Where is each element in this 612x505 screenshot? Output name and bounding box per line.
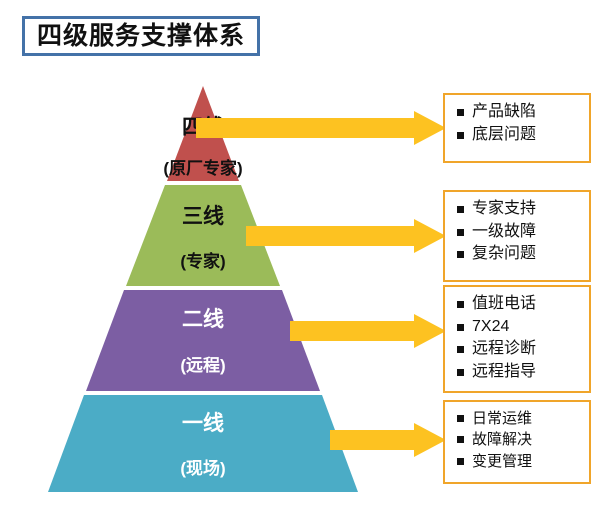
list-item: 专家支持 xyxy=(457,198,579,221)
tier3-callout[interactable]: 专家支持 一级故障 复杂问题 xyxy=(443,190,591,282)
arrow-to-tier4-callout xyxy=(196,111,446,145)
list-item: 一级故障 xyxy=(457,221,579,244)
tier4-callout-list: 产品缺陷 底层问题 xyxy=(457,101,579,146)
list-item-label: 变更管理 xyxy=(472,451,532,472)
list-item: 产品缺陷 xyxy=(457,101,579,124)
page-title: 四级服务支撑体系 xyxy=(37,24,245,49)
square-bullet-icon xyxy=(457,346,464,353)
list-item-label: 复杂问题 xyxy=(472,243,536,266)
square-bullet-icon xyxy=(457,132,464,139)
list-item-label: 远程诊断 xyxy=(472,338,536,361)
square-bullet-icon xyxy=(457,109,464,116)
tier2-callout-list: 值班电话 7X24 远程诊断 远程指导 xyxy=(457,293,579,384)
list-item-label: 7X24 xyxy=(472,316,509,339)
list-item: 7X24 xyxy=(457,316,579,339)
list-item-label: 故障解决 xyxy=(472,429,532,450)
list-item-label: 一级故障 xyxy=(472,221,536,244)
tier3-callout-list: 专家支持 一级故障 复杂问题 xyxy=(457,198,579,266)
square-bullet-icon xyxy=(457,301,464,308)
square-bullet-icon xyxy=(457,415,464,422)
pyramid-shapes xyxy=(48,86,358,500)
list-item-label: 值班电话 xyxy=(472,293,536,316)
square-bullet-icon xyxy=(457,229,464,236)
square-bullet-icon xyxy=(457,206,464,213)
list-item-label: 底层问题 xyxy=(472,124,536,147)
square-bullet-icon xyxy=(457,251,464,258)
pyramid-tier-1[interactable] xyxy=(48,395,358,492)
square-bullet-icon xyxy=(457,369,464,376)
arrow-to-tier2-callout xyxy=(290,314,446,348)
list-item: 远程指导 xyxy=(457,361,579,384)
list-item: 变更管理 xyxy=(457,451,579,472)
square-bullet-icon xyxy=(457,458,464,465)
list-item: 复杂问题 xyxy=(457,243,579,266)
pyramid-tier-2[interactable] xyxy=(86,290,320,391)
pyramid-diagram: 四线 (原厂专家) 三线 (专家) 二线 (远程) 一线 (现场) xyxy=(48,86,358,500)
list-item: 日常运维 xyxy=(457,408,579,429)
square-bullet-icon xyxy=(457,436,464,443)
list-item-label: 产品缺陷 xyxy=(472,101,536,124)
arrow-to-tier3-callout xyxy=(246,219,446,253)
list-item: 故障解决 xyxy=(457,429,579,450)
square-bullet-icon xyxy=(457,324,464,331)
tier1-callout[interactable]: 日常运维 故障解决 变更管理 xyxy=(443,400,591,484)
list-item: 远程诊断 xyxy=(457,338,579,361)
list-item-label: 日常运维 xyxy=(472,408,532,429)
list-item-label: 专家支持 xyxy=(472,198,536,221)
list-item: 值班电话 xyxy=(457,293,579,316)
list-item: 底层问题 xyxy=(457,124,579,147)
list-item-label: 远程指导 xyxy=(472,361,536,384)
tier2-callout[interactable]: 值班电话 7X24 远程诊断 远程指导 xyxy=(443,285,591,393)
diagram-canvas: 四级服务支撑体系 四线 (原厂专家) 三线 (专家) 二线 (远程) 一线 (现… xyxy=(0,0,612,500)
tier4-callout[interactable]: 产品缺陷 底层问题 xyxy=(443,93,591,163)
tier1-callout-list: 日常运维 故障解决 变更管理 xyxy=(457,408,579,472)
page-title-box: 四级服务支撑体系 xyxy=(22,16,260,56)
arrow-to-tier1-callout xyxy=(330,423,446,457)
